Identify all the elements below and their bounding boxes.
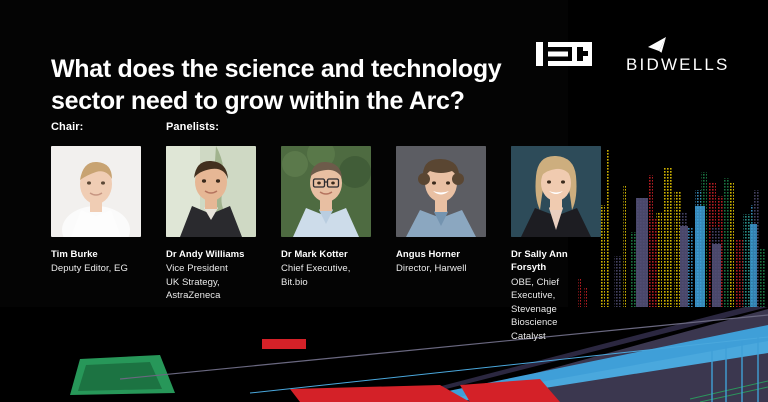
avatar: [51, 146, 141, 237]
speaker-name: Angus Horner: [396, 248, 486, 261]
speaker-card: Dr Mark Kotter Chief Executive, Bit.bio: [281, 146, 371, 343]
avatar: [281, 146, 371, 237]
logo-group: BIDWELLS: [536, 34, 746, 74]
avatar: [396, 146, 486, 237]
speaker-name: Tim Burke: [51, 248, 141, 261]
portrait-mark-kotter: [281, 146, 371, 237]
page-title: What does the science and technology sec…: [51, 53, 521, 117]
svg-text:BIDWELLS: BIDWELLS: [626, 55, 730, 74]
speaker-name: Dr Mark Kotter: [281, 248, 371, 261]
speaker-card: Angus Horner Director, Harwell: [396, 146, 486, 343]
avatar: [166, 146, 256, 237]
bidwells-logo: BIDWELLS: [626, 34, 746, 74]
avatar: [511, 146, 601, 237]
slide-canvas: What does the science and technology sec…: [0, 0, 768, 402]
panelists-label: Panelists:: [166, 121, 219, 133]
bidwells-arrow-icon: [648, 37, 666, 53]
speaker-role: Chief Executive, Bit.bio: [281, 262, 371, 289]
eg-logo: [536, 41, 592, 67]
chair-label: Chair:: [51, 121, 83, 133]
speaker-name: Dr Sally Ann Forsyth: [511, 248, 601, 275]
speaker-list: Tim Burke Deputy Editor, EG: [51, 146, 601, 343]
portrait-tim-burke: [51, 146, 141, 237]
speaker-role: Vice President UK Strategy, AstraZeneca: [166, 262, 256, 302]
speaker-role: Director, Harwell: [396, 262, 486, 275]
speaker-card: Tim Burke Deputy Editor, EG: [51, 146, 141, 343]
portrait-sally-ann-forsyth: [511, 146, 601, 237]
speaker-role: Deputy Editor, EG: [51, 262, 141, 275]
portrait-andy-williams: [166, 146, 256, 237]
speaker-card: Dr Andy Williams Vice President UK Strat…: [166, 146, 256, 343]
portrait-angus-horner: [396, 146, 486, 237]
speaker-role: OBE, Chief Executive, Stevenage Bioscien…: [511, 276, 601, 343]
speaker-card: Dr Sally Ann Forsyth OBE, Chief Executiv…: [511, 146, 601, 343]
speaker-name: Dr Andy Williams: [166, 248, 256, 261]
